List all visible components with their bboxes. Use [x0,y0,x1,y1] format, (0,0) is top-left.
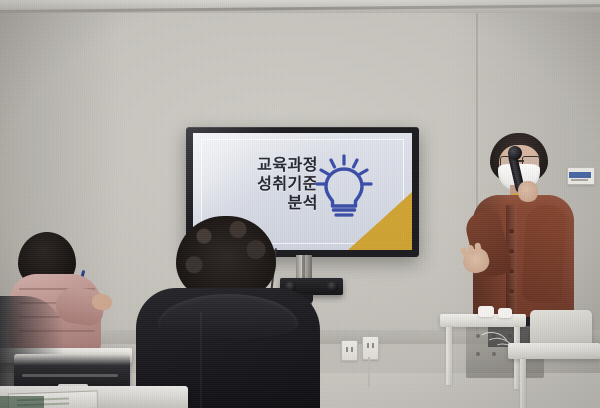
slide-title: 교육과정 성취기준 분석 [210,155,318,212]
power-outlet-left [341,340,358,361]
attendee-center [136,216,320,408]
slide-gold-corner-decoration [348,192,412,250]
cardigan-button [509,249,514,254]
presenter [462,133,584,333]
power-outlet-right [362,336,379,360]
speaker-driver-right [327,281,338,292]
desk-leg [446,327,452,385]
outlet-cable [368,357,370,387]
desk-right-lower [508,343,600,359]
unit-vent-band [22,374,118,377]
desk-item [498,308,512,318]
presenter-arm-right [521,204,566,304]
desk-item [478,306,494,317]
desk-computer-unit [14,354,130,388]
cardigan-button [509,229,514,234]
hoodie-seam [200,312,202,408]
cardigan-button [509,289,514,294]
classroom-presentation-scene: 교육과정 성취기준 분석 [0,0,600,408]
cardigan-button [509,269,514,274]
presenter-hand-holding-mic [518,181,538,202]
foreground-dark-edge [0,396,44,408]
desk-leg [520,359,526,408]
